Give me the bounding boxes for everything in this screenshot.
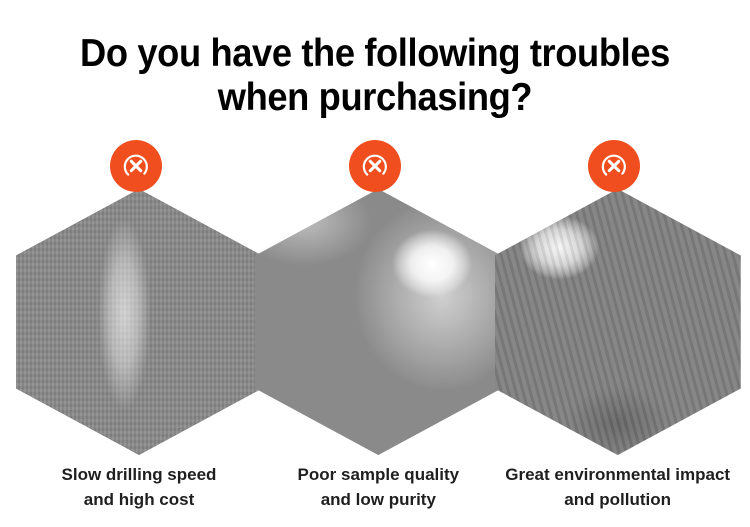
core-sample-photo xyxy=(255,189,501,455)
card-caption-line-1: Poor sample quality xyxy=(255,462,501,487)
hexagon-clip xyxy=(255,189,501,455)
card-caption: Slow drilling speed and high cost xyxy=(16,462,262,512)
page-title: Do you have the following troubles when … xyxy=(26,32,724,120)
circle-x-icon xyxy=(588,140,640,192)
field-workers-photo xyxy=(495,189,741,455)
trouble-card: Poor sample quality and low purity xyxy=(255,140,494,527)
circle-x-icon xyxy=(110,140,162,192)
drilling-rig-photo xyxy=(16,189,262,455)
trouble-card: Slow drilling speed and high cost xyxy=(16,140,255,527)
card-caption-line-2: and low purity xyxy=(255,487,501,512)
hexagon-photo-frame xyxy=(255,189,501,455)
promo-banner: Do you have the following troubles when … xyxy=(0,0,750,527)
page-title-line-1: Do you have the following troubles xyxy=(26,32,724,76)
page-title-line-2: when purchasing? xyxy=(26,76,724,120)
card-caption: Poor sample quality and low purity xyxy=(255,462,501,512)
circle-x-icon xyxy=(349,140,401,192)
card-caption: Great environmental impact and pollution xyxy=(495,462,741,512)
hexagon-clip xyxy=(16,189,262,455)
hexagon-photo-frame xyxy=(16,189,262,455)
card-caption-line-2: and pollution xyxy=(495,487,741,512)
card-caption-line-1: Great environmental impact xyxy=(495,462,741,487)
card-caption-line-2: and high cost xyxy=(16,487,262,512)
hexagon-clip xyxy=(495,189,741,455)
card-caption-line-1: Slow drilling speed xyxy=(16,462,262,487)
trouble-card: Great environmental impact and pollution xyxy=(495,140,734,527)
hexagon-photo-frame xyxy=(495,189,741,455)
trouble-cards: Slow drilling speed and high cost Poor s… xyxy=(0,140,750,527)
